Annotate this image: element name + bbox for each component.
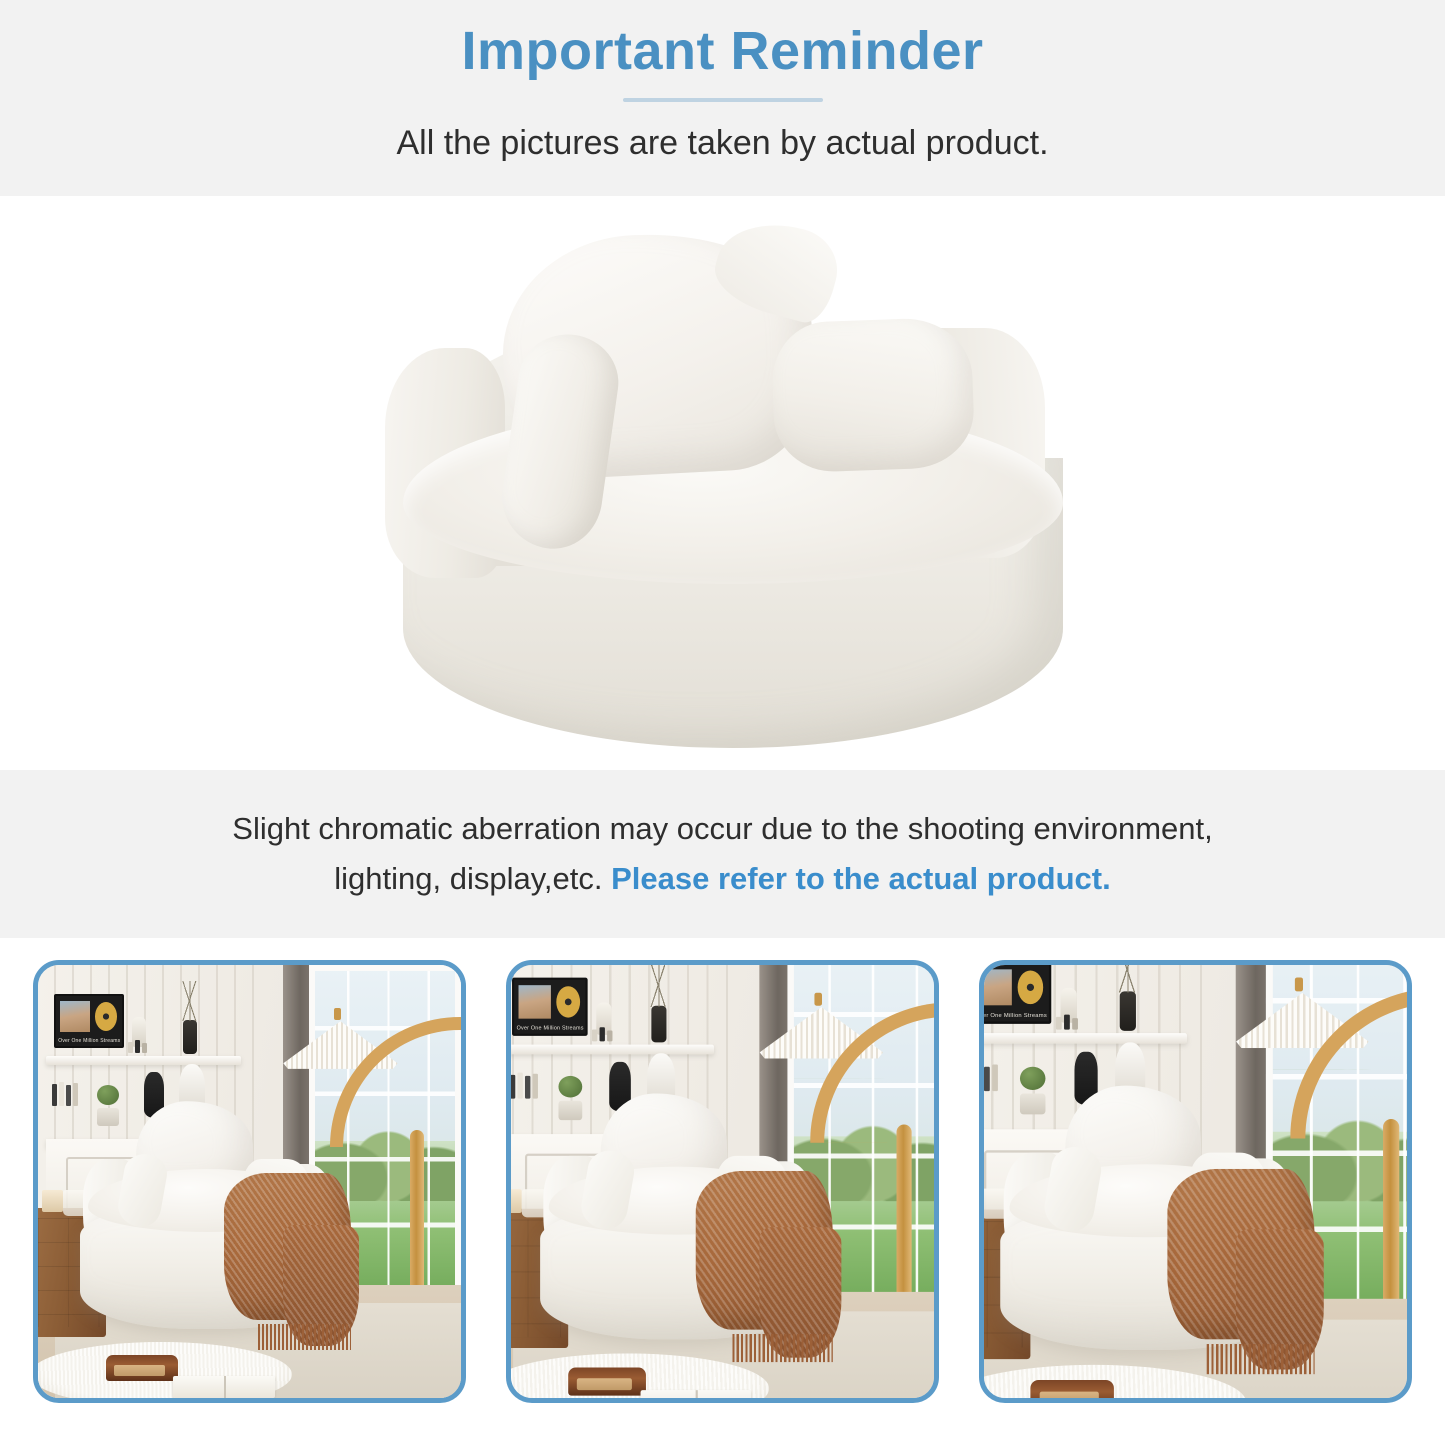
book — [59, 1082, 64, 1106]
book — [600, 1028, 605, 1042]
book — [66, 1085, 71, 1106]
gold-record-disc — [1017, 970, 1043, 1004]
candle — [979, 1189, 981, 1214]
book — [128, 1042, 133, 1053]
book — [52, 1084, 57, 1106]
vintage-radio — [106, 1355, 178, 1381]
chair-lumbar-pillow — [770, 317, 975, 474]
vintage-radio — [1030, 1380, 1113, 1403]
gold-record-art: Over One Million Streams — [54, 994, 124, 1049]
gold-record-art: Over One Million Streams — [512, 977, 588, 1036]
branches — [169, 981, 213, 1021]
shelf-books-lower — [979, 1063, 998, 1091]
header-subtitle: All the pictures are taken by actual pro… — [396, 124, 1048, 163]
thumbnail-lifestyle-1[interactable]: Over One Million Streams — [33, 960, 466, 1403]
header-band: Important Reminder All the pictures are … — [0, 0, 1445, 196]
book — [73, 1083, 78, 1106]
art-photo — [519, 985, 551, 1019]
book — [992, 1064, 998, 1091]
thumbnail-lifestyle-3[interactable]: Over One Million Streams — [979, 960, 1412, 1403]
book — [607, 1031, 612, 1042]
branches — [1104, 960, 1155, 992]
shelf-books-top — [128, 1040, 147, 1053]
shelf-board — [506, 1044, 714, 1054]
art-caption: Over One Million Streams — [979, 1012, 1049, 1019]
shelf-board — [979, 1033, 1187, 1043]
book — [142, 1043, 147, 1053]
lamp-finial — [1295, 978, 1303, 992]
lamp-finial — [334, 1008, 341, 1020]
book — [518, 1073, 523, 1099]
shelf-board — [46, 1056, 241, 1065]
lamp-finial — [815, 993, 823, 1006]
lamp-pole — [897, 1124, 912, 1311]
throw-fringe — [1207, 1345, 1315, 1375]
shelf-books-lower — [52, 1082, 78, 1106]
art-photo — [979, 969, 1012, 1005]
dark-glass-vase — [1119, 991, 1135, 1030]
throw-fringe — [732, 1334, 832, 1362]
art-caption: Over One Million Streams — [514, 1025, 585, 1031]
scene-2: Over One Million Streams — [506, 960, 939, 1403]
shelf-books-top — [592, 1028, 613, 1042]
disclaimer-emphasis-text: Please refer to the actual product. — [611, 861, 1111, 896]
art-photo — [60, 1001, 90, 1032]
lamp-pole — [1383, 1118, 1399, 1319]
candle — [506, 1189, 522, 1212]
book — [525, 1076, 530, 1099]
vintage-radio — [568, 1367, 646, 1395]
gold-record-disc — [556, 986, 580, 1018]
book — [135, 1040, 140, 1053]
gold-record-art: Over One Million Streams — [979, 961, 1052, 1024]
scene-1: Over One Million Streams — [38, 965, 461, 1398]
page-title: Important Reminder — [461, 18, 983, 86]
gold-record-disc — [95, 1002, 117, 1031]
scene-3: Over One Million Streams — [979, 960, 1412, 1403]
thumbnail-gallery: Over One Million Streams — [0, 960, 1445, 1410]
open-magazine — [173, 1376, 275, 1398]
disclaimer-line-2: lighting, display,etc. Please refer to t… — [334, 854, 1110, 904]
disclaimer-band: Slight chromatic aberration may occur du… — [0, 770, 1445, 938]
book — [979, 1063, 982, 1091]
book — [533, 1074, 538, 1099]
lamp-pole — [410, 1130, 424, 1303]
book — [1064, 1015, 1070, 1030]
hero-product-image — [0, 196, 1445, 770]
dark-glass-vase — [651, 1005, 666, 1042]
product-chair — [355, 208, 1095, 758]
book — [592, 1030, 597, 1042]
open-magazine — [641, 1391, 751, 1403]
shelf-books-lower — [510, 1073, 538, 1099]
title-divider — [623, 98, 823, 102]
book — [1072, 1018, 1078, 1030]
branches — [636, 963, 684, 1006]
candle — [42, 1190, 63, 1212]
throw-fringe — [258, 1324, 351, 1350]
disclaimer-line-1: Slight chromatic aberration may occur du… — [232, 804, 1212, 854]
shelf-books-top — [1056, 1015, 1078, 1030]
book — [510, 1075, 515, 1099]
art-caption: Over One Million Streams — [56, 1038, 122, 1044]
dark-glass-vase — [183, 1020, 197, 1054]
disclaimer-plain-text: lighting, display,etc. — [334, 861, 611, 896]
book — [1056, 1017, 1062, 1030]
book — [984, 1067, 990, 1091]
thumbnail-lifestyle-2[interactable]: Over One Million Streams — [506, 960, 939, 1403]
product-detail-page: Important Reminder All the pictures are … — [0, 0, 1445, 1445]
